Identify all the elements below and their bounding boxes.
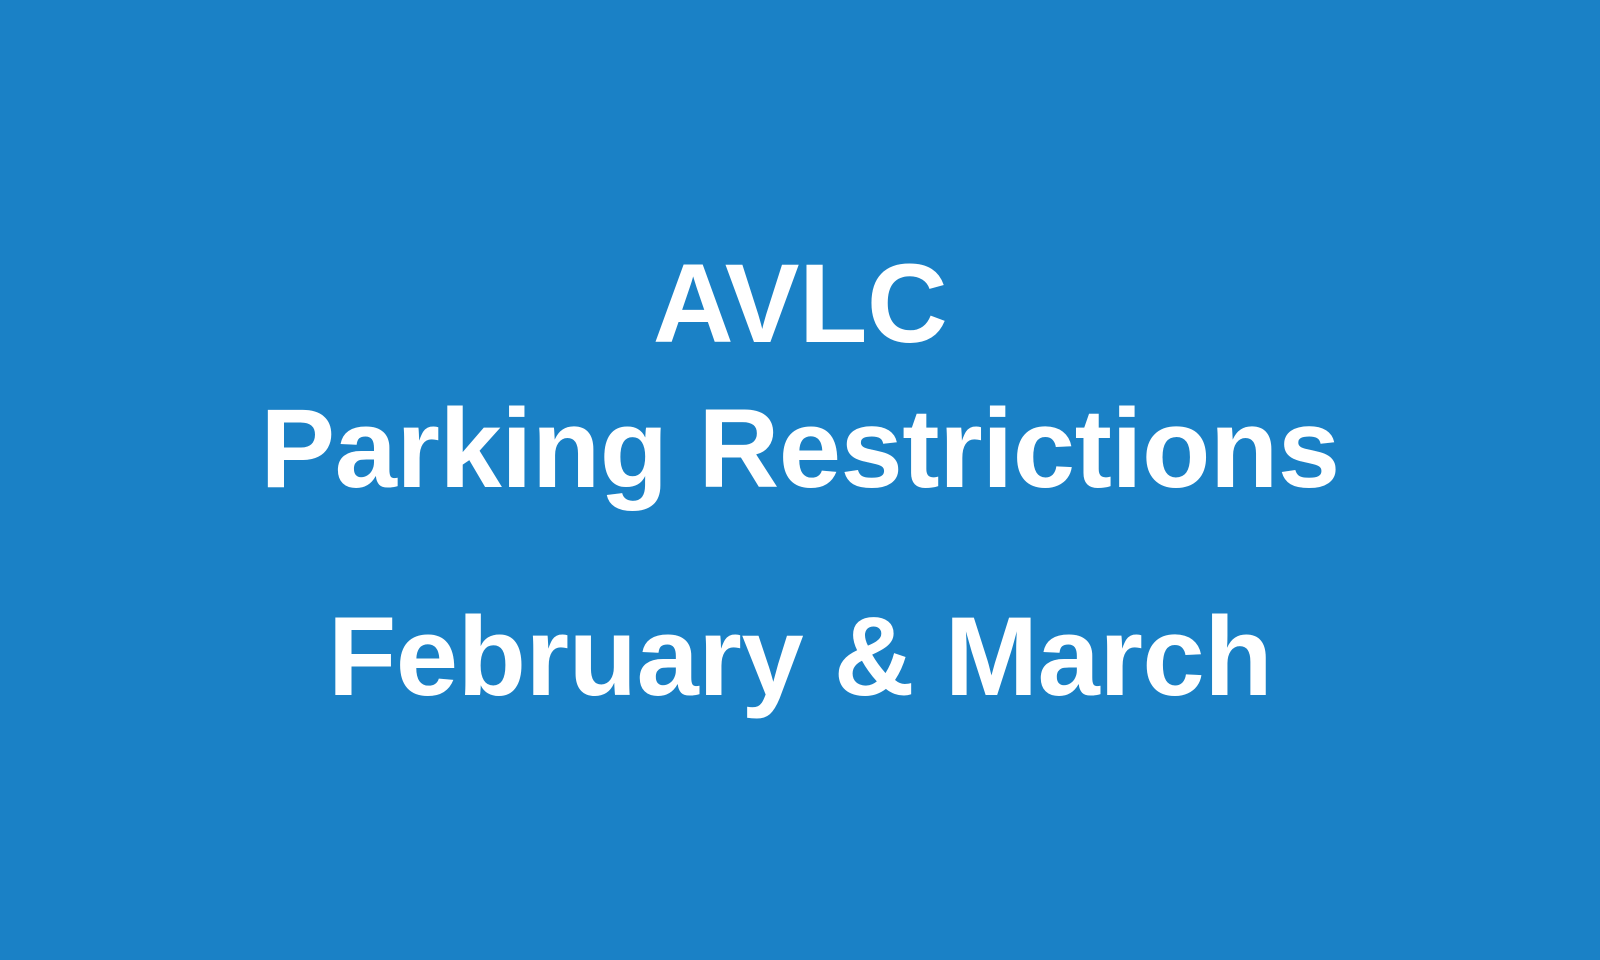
subhead-date-range: February & March	[60, 584, 1540, 730]
headline: AVLC Parking Restrictions	[60, 231, 1540, 522]
announcement-slide: AVLC Parking Restrictions February & Mar…	[0, 0, 1600, 960]
headline-line-subject: Parking Restrictions	[60, 376, 1540, 522]
headline-line-organization: AVLC	[60, 231, 1540, 377]
text-stack: AVLC Parking Restrictions February & Mar…	[60, 231, 1540, 730]
headline-subhead-spacer	[60, 522, 1540, 584]
